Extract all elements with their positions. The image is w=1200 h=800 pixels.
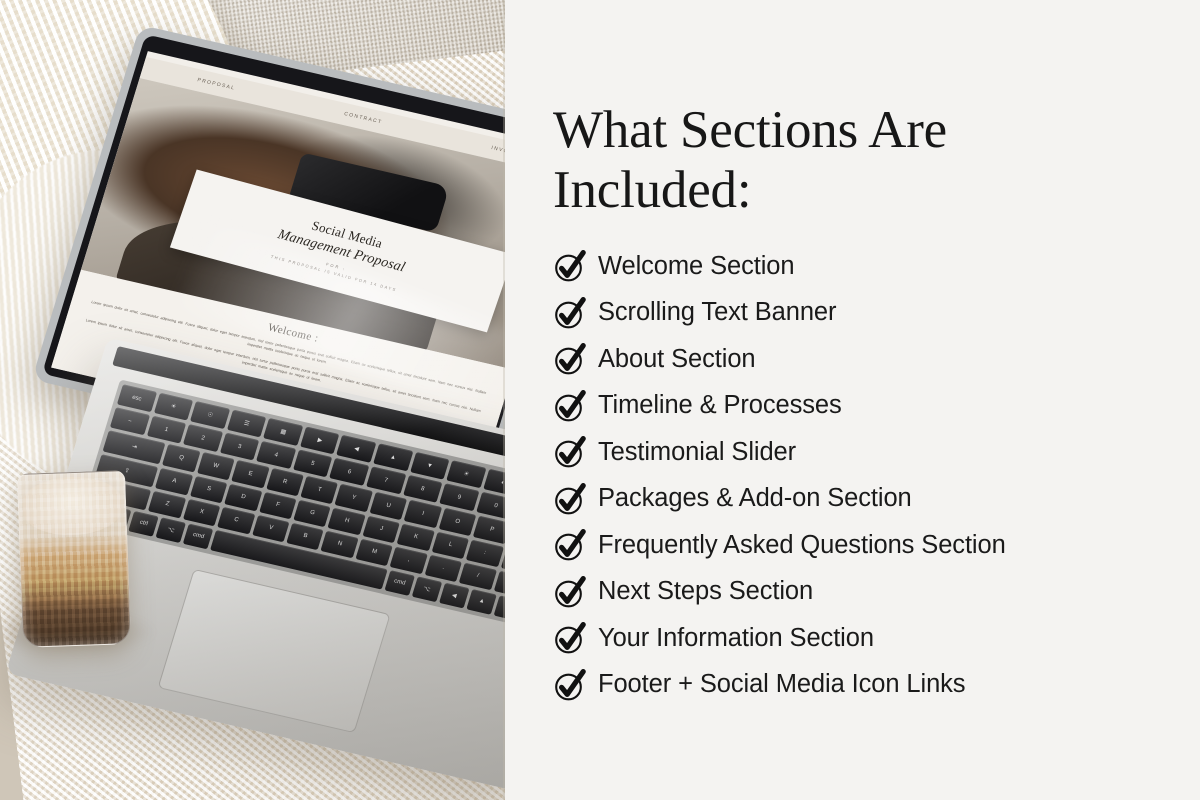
- check-circle-icon: [553, 622, 585, 654]
- keyboard-key: Z: [148, 491, 186, 519]
- list-item: Welcome Section: [553, 243, 1193, 290]
- list-item-label: Packages & Add-on Section: [598, 484, 912, 513]
- keyboard-key: cmd: [183, 523, 214, 549]
- keyboard-key: U: [370, 492, 408, 520]
- check-circle-icon: [553, 436, 585, 468]
- laptop-mockup: PROPOSAL CONTRACT INVOICE Social Media M…: [60, 60, 505, 780]
- list-item: Packages & Add-on Section: [553, 476, 1193, 523]
- keyboard-key: N: [321, 531, 359, 559]
- keyboard-key: ,: [390, 546, 428, 574]
- keyboard-key: R: [266, 468, 304, 496]
- list-item-label: About Section: [598, 345, 755, 374]
- keyboard-key: .: [424, 554, 462, 582]
- list-item-label: Next Steps Section: [598, 577, 813, 606]
- check-circle-icon: [553, 669, 585, 701]
- product-photo: PROPOSAL CONTRACT INVOICE Social Media M…: [0, 0, 505, 800]
- check-circle-icon: [553, 250, 585, 282]
- keyboard-key: ▲: [466, 589, 497, 615]
- keyboard-key: X: [183, 499, 221, 527]
- iced-coffee-glass: [17, 470, 131, 648]
- keyboard-key: O: [439, 508, 477, 536]
- keyboard-key: A: [155, 468, 193, 496]
- page-title-line-1: What Sections Are: [553, 101, 947, 159]
- list-item: Scrolling Text Banner: [553, 290, 1193, 337]
- laptop-keyboard: esc☀☉☰▦▶◀▲▼☀◐⏻~1234567890⌫⇥QWERTYUIOP{⇪A…: [76, 379, 505, 625]
- keyboard-key: M: [355, 538, 393, 566]
- keyboard-key: /: [459, 562, 497, 590]
- keyboard-key: ctrl: [128, 511, 159, 537]
- page-title: What Sections AreIncluded:: [553, 100, 1153, 221]
- keyboard-key: C: [217, 507, 255, 535]
- list-item: Your Information Section: [553, 615, 1193, 662]
- list-item-label: Footer + Social Media Icon Links: [598, 670, 965, 699]
- check-circle-icon: [553, 390, 585, 422]
- list-item-label: Your Information Section: [598, 624, 874, 653]
- keyboard-key: H: [328, 507, 366, 535]
- keyboard-key: Q: [162, 444, 200, 472]
- keyboard-key: V: [252, 515, 290, 543]
- keyboard-key: ◀: [439, 583, 470, 609]
- keyboard-key: F: [259, 491, 297, 519]
- keyboard-key: E: [231, 460, 269, 488]
- check-circle-icon: [553, 576, 585, 608]
- nav-item-contract: CONTRACT: [343, 111, 383, 126]
- content-panel: What Sections AreIncluded: Welcome Secti…: [505, 0, 1200, 800]
- keyboard-key: T: [301, 476, 339, 504]
- keyboard-key: P: [473, 516, 505, 544]
- list-item: Timeline & Processes: [553, 383, 1193, 430]
- list-item: Testimonial Slider: [553, 429, 1193, 476]
- list-item: Footer + Social Media Icon Links: [553, 662, 1193, 709]
- keyboard-key: J: [362, 515, 400, 543]
- list-item: Frequently Asked Questions Section: [553, 522, 1193, 569]
- keyboard-key: ⌥: [412, 576, 443, 602]
- laptop-trackpad: [158, 569, 391, 733]
- keyboard-key: B: [286, 523, 324, 551]
- check-circle-icon: [553, 483, 585, 515]
- keyboard-key: cmd: [384, 570, 415, 596]
- page-title-line-2: Included:: [553, 161, 751, 219]
- keyboard-key: K: [397, 523, 435, 551]
- glass-facet-texture: [18, 471, 130, 647]
- keyboard-key: W: [197, 452, 235, 480]
- check-circle-icon: [553, 297, 585, 329]
- check-circle-icon: [553, 343, 585, 375]
- keyboard-key: L: [431, 531, 469, 559]
- list-item: About Section: [553, 336, 1193, 383]
- keyboard-key: G: [293, 499, 331, 527]
- keyboard-key: Y: [335, 484, 373, 512]
- poster-canvas: PROPOSAL CONTRACT INVOICE Social Media M…: [0, 0, 1200, 800]
- keyboard-key: S: [190, 475, 228, 503]
- keyboard-key: I: [404, 500, 442, 528]
- keyboard-key: :: [466, 539, 504, 567]
- sections-checklist: Welcome SectionScrolling Text BannerAbou…: [553, 243, 1193, 708]
- keyboard-key: D: [224, 483, 262, 511]
- list-item: Next Steps Section: [553, 569, 1193, 616]
- keyboard-key: ⌥: [156, 517, 187, 543]
- list-item-label: Scrolling Text Banner: [598, 298, 836, 327]
- list-item-label: Timeline & Processes: [598, 391, 842, 420]
- list-item-label: Frequently Asked Questions Section: [598, 531, 1006, 560]
- list-item-label: Testimonial Slider: [598, 438, 796, 467]
- check-circle-icon: [553, 529, 585, 561]
- list-item-label: Welcome Section: [598, 252, 794, 281]
- nav-item-proposal: PROPOSAL: [197, 77, 236, 91]
